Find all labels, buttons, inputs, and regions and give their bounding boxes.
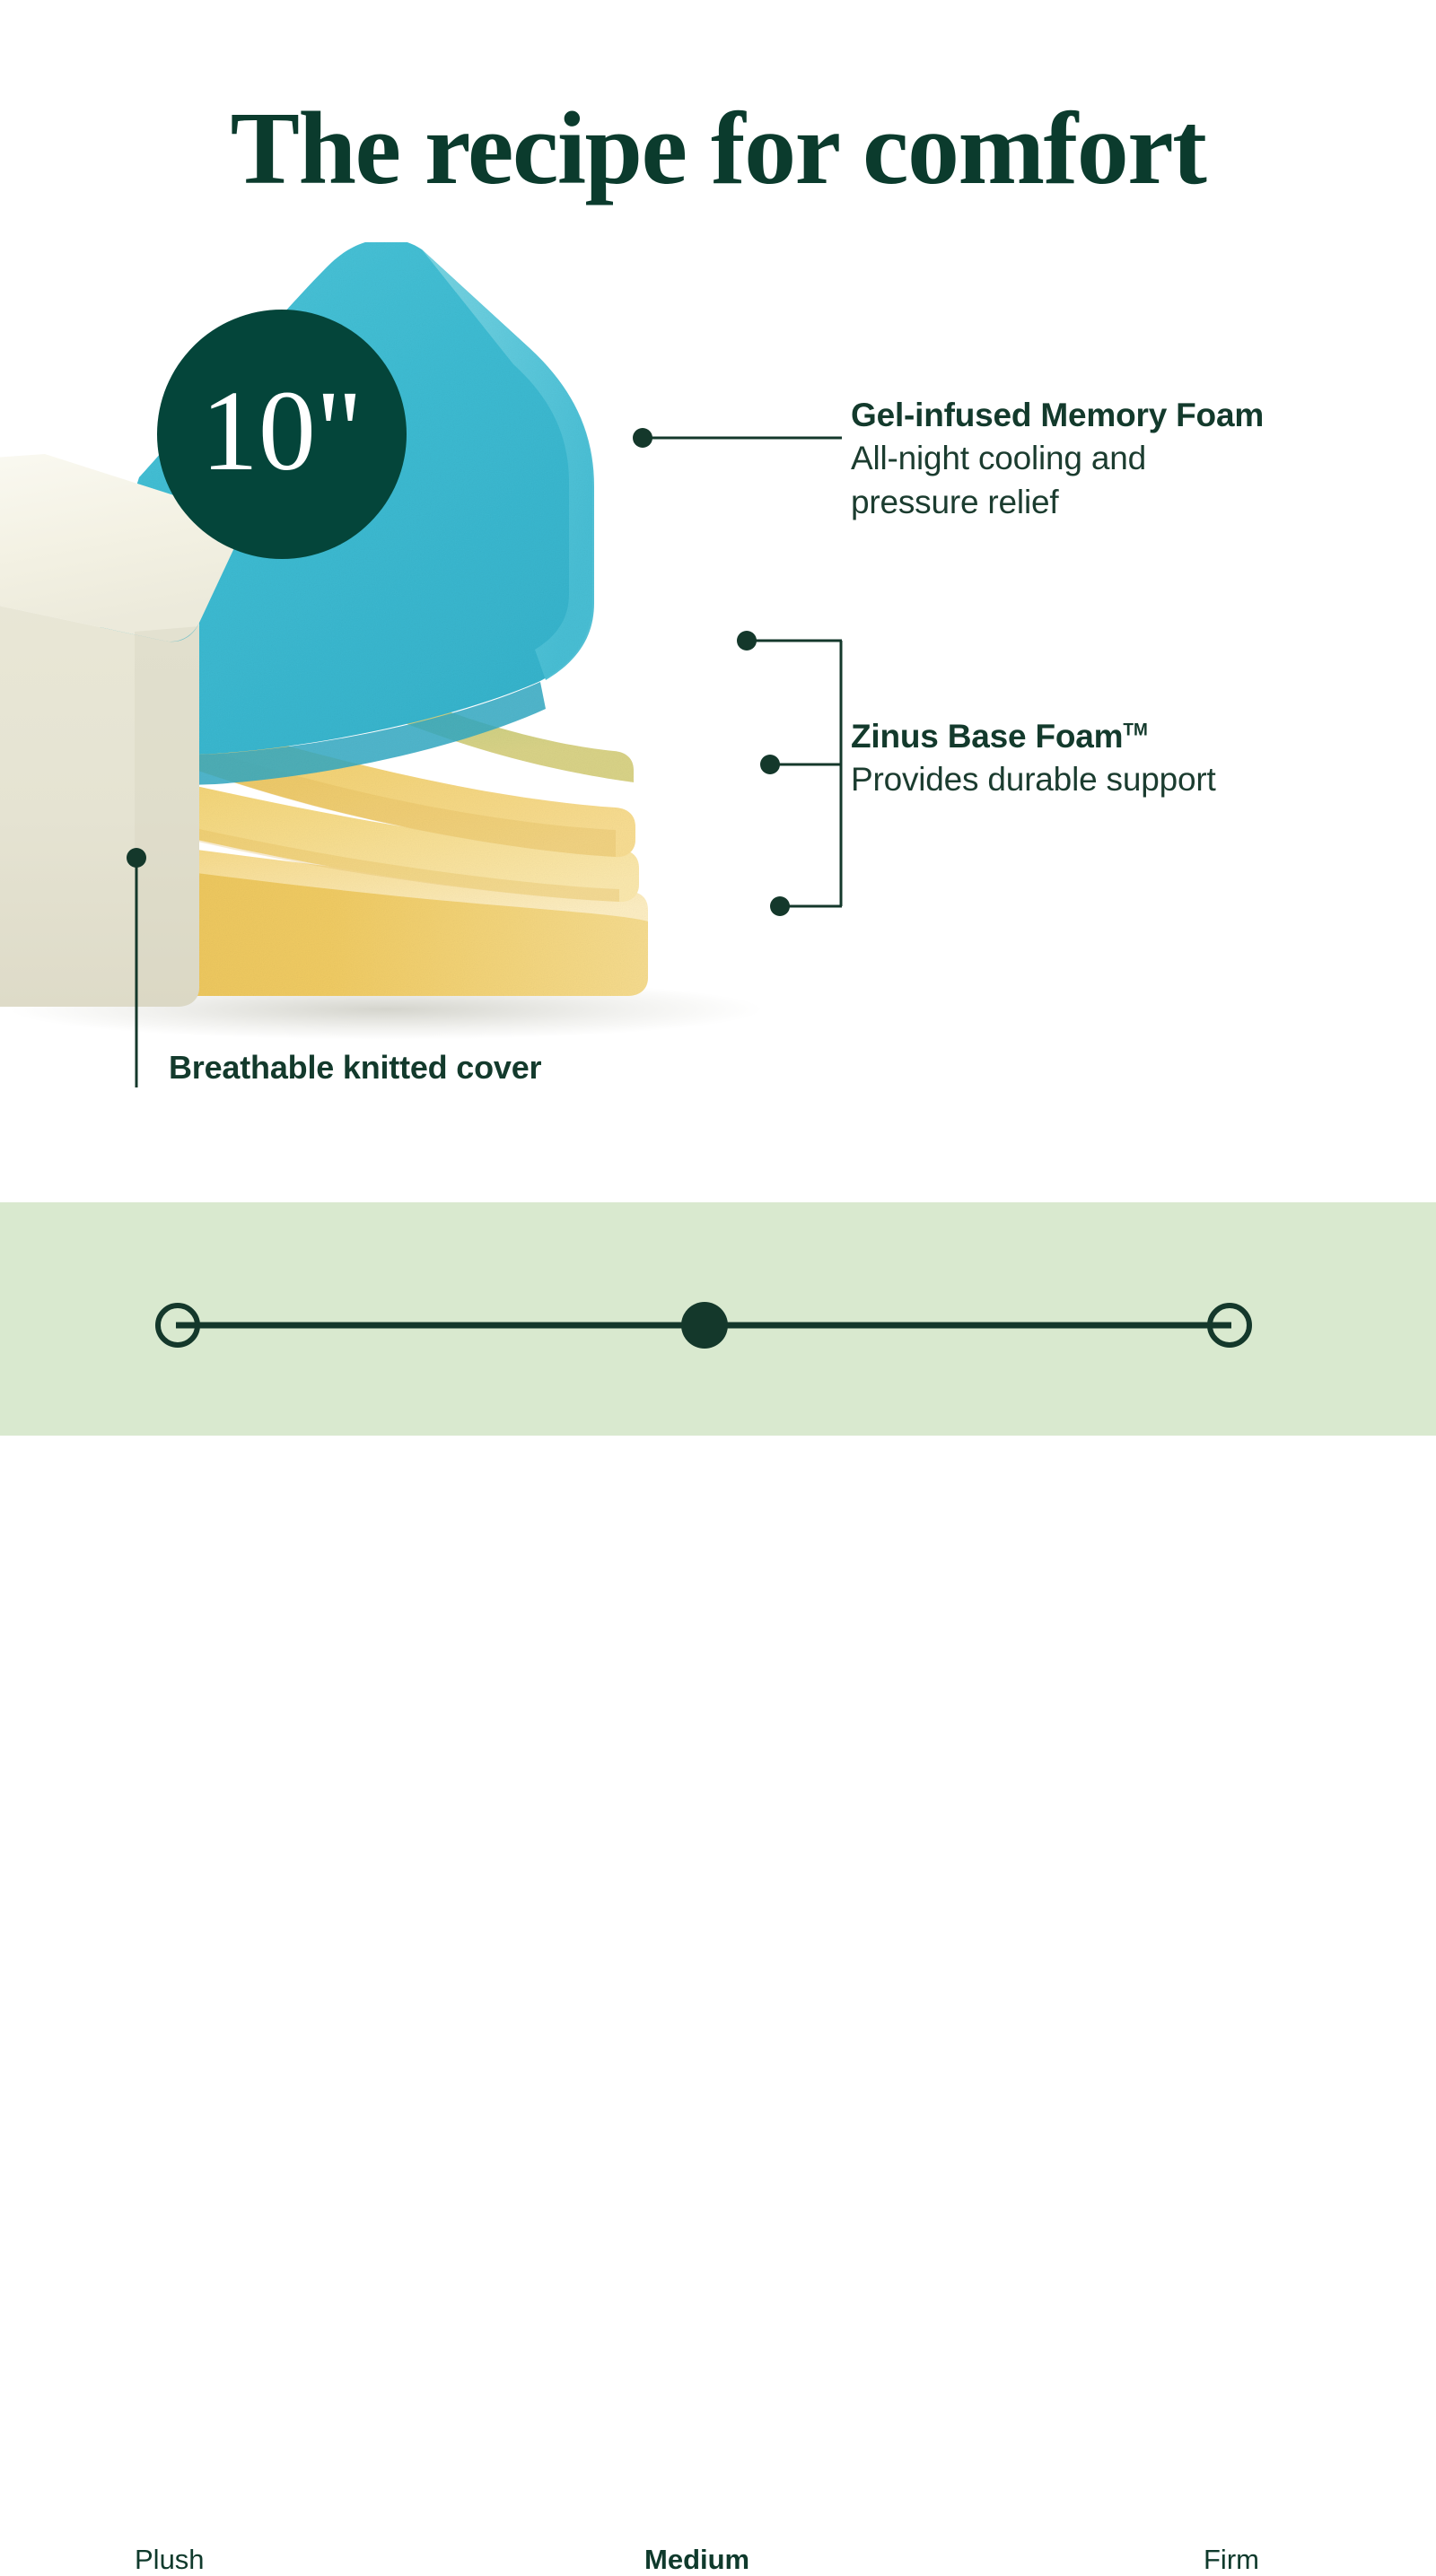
callout-breathable-knitted-cover: Breathable knitted cover <box>169 1048 541 1087</box>
firmness-slider[interactable] <box>0 1202 1436 1436</box>
infographic-canvas: The recipe for comfort <box>0 0 1436 1436</box>
callout-body-line: All-night cooling and <box>851 437 1353 481</box>
callout-body-line: Provides durable support <box>851 758 1353 802</box>
mattress-layer-illustration <box>0 242 897 1050</box>
callout-gel-infused-memory-foam: Gel-infused Memory Foam All-night coolin… <box>851 395 1353 525</box>
firmness-label-firm[interactable]: Firm <box>1204 2544 1259 2576</box>
firmness-band: Plush Medium Firm <box>0 1202 1436 1436</box>
page-title: The recipe for comfort <box>0 97 1436 201</box>
depth-badge: 10" <box>157 310 407 559</box>
trademark-mark: TM <box>1123 721 1147 740</box>
callout-body-line: pressure relief <box>851 481 1353 525</box>
depth-badge-value: 10" <box>201 373 363 488</box>
callout-title-text: Zinus Base Foam <box>851 718 1123 755</box>
firmness-label-plush[interactable]: Plush <box>135 2544 205 2576</box>
callout-body: All-night cooling and pressure relief <box>851 437 1353 525</box>
callout-title: Breathable knitted cover <box>169 1048 541 1087</box>
firmness-stop-medium <box>681 1302 728 1349</box>
callout-title: Gel-infused Memory Foam <box>851 395 1353 435</box>
callout-title: Zinus Base FoamTM <box>851 716 1353 756</box>
callout-zinus-base-foam: Zinus Base FoamTM Provides durable suppo… <box>851 716 1353 802</box>
callout-body: Provides durable support <box>851 758 1353 802</box>
knitted-cover-front-shade <box>135 626 199 1007</box>
firmness-label-medium[interactable]: Medium <box>644 2544 749 2576</box>
